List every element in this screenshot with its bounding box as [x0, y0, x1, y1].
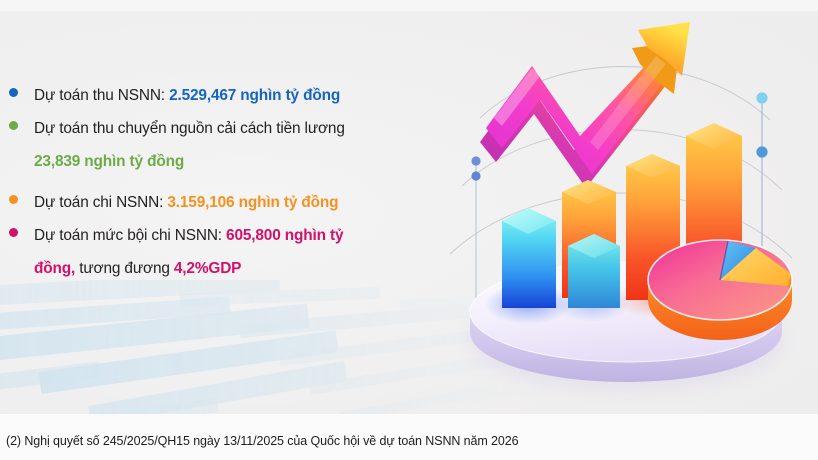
bullet-mid-text: tương đương [75, 260, 174, 277]
dot-left-lower [471, 171, 480, 180]
list-item: Dự toán thu NSNN: 2.529,467 nghìn tỷ đồn… [9, 80, 439, 111]
footnote-text: (2) Nghị quyết số 245/2025/QH15 ngày 13/… [6, 434, 518, 448]
bullet-text-thu-nsnn: Dự toán thu NSNN: 2.529,467 nghìn tỷ đồn… [34, 80, 340, 111]
bullet-list: Dự toán thu NSNN: 2.529,467 nghìn tỷ đồn… [9, 80, 439, 284]
bullet-label: Dự toán chi NSNN: [34, 194, 167, 211]
list-item: Dự toán mức bội chi NSNN: 605,800 nghìn … [9, 220, 439, 251]
dot-right-upper [756, 92, 767, 103]
bullet-text-chi-nsnn: Dự toán chi NSNN: 3.159,106 nghìn tỷ đồn… [34, 187, 338, 218]
list-item: Dự toán chi NSNN: 3.159,106 nghìn tỷ đồn… [9, 187, 439, 218]
bullet-label: Dự toán thu chuyển nguồn cải cách tiền l… [34, 120, 345, 137]
pie-chart-3d [648, 240, 792, 340]
bullet-dot-blue [9, 88, 18, 97]
bullet-value: 3.159,106 nghìn tỷ đồng [167, 194, 338, 211]
illustration-3d-growth-chart [440, 8, 818, 408]
bullet-value: 605,800 nghìn tỷ [226, 227, 343, 244]
bar-cyan-1 [502, 208, 556, 308]
infographic-canvas: Dự toán thu NSNN: 2.529,467 nghìn tỷ đồn… [0, 0, 818, 460]
bullet-label: Dự toán thu NSNN: [34, 87, 169, 104]
bullet-value-3: 4,2%GDP [174, 260, 241, 277]
bullet-dot-green [9, 121, 18, 130]
bullet-continuation-crimson: đồng, tương đương 4,2%GDP [34, 253, 439, 284]
tick-line-left [471, 156, 480, 308]
bullet-continuation-green: 23,839 nghìn tỷ đồng [34, 146, 439, 177]
tick-line-right [756, 92, 767, 246]
bullet-dot-orange [9, 195, 18, 204]
bullet-text-muc-boi-chi: Dự toán mức bội chi NSNN: 605,800 nghìn … [34, 220, 343, 251]
bullet-dot-crimson [9, 228, 18, 237]
dot-right-lower [756, 146, 767, 157]
bullet-text-thu-chuyen-nguon: Dự toán thu chuyển nguồn cải cách tiền l… [34, 113, 345, 144]
list-item: Dự toán thu chuyển nguồn cải cách tiền l… [9, 113, 439, 144]
dot-left-upper [471, 156, 480, 165]
bullet-value: 23,839 nghìn tỷ đồng [34, 153, 184, 170]
bar-cyan-2 [568, 234, 620, 308]
bullet-value: 2.529,467 nghìn tỷ đồng [169, 87, 340, 104]
bullet-value-2: đồng, [34, 260, 75, 277]
bullet-label: Dự toán mức bội chi NSNN: [34, 227, 226, 244]
